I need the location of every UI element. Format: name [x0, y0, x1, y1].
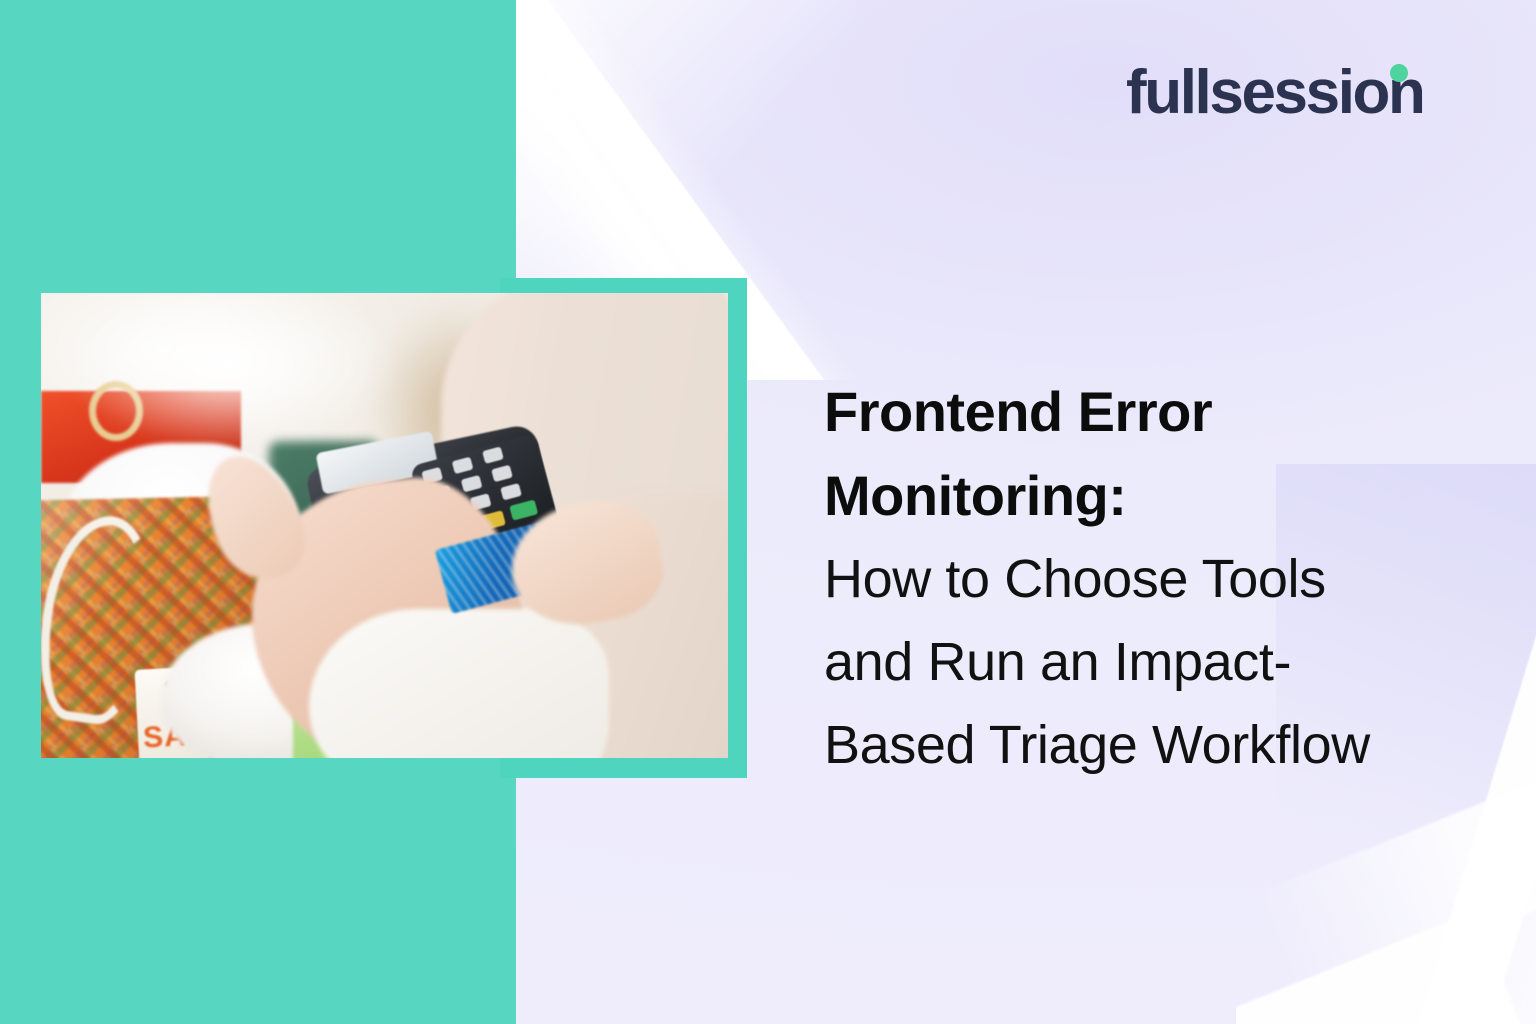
photo-pos-key [482, 446, 504, 463]
page-subtitle-line-2: and Run an Impact- [824, 621, 1484, 704]
hero-photo: SALE [41, 293, 728, 758]
photo-pos-key [491, 465, 513, 482]
photo-highlight-bloom [41, 293, 441, 473]
photo-pos-key [452, 457, 474, 474]
page-subtitle-line-1: How to Choose Tools [824, 538, 1484, 621]
photo-pos-key [461, 475, 483, 492]
page-title-line-1: Frontend Error [824, 370, 1484, 454]
photo-sleeve [309, 609, 609, 758]
page-title-line-2: Monitoring: [824, 454, 1484, 538]
logo-text-full: full [1126, 62, 1209, 124]
photo-pos-key [500, 483, 522, 500]
hero-photo-content: SALE [41, 293, 728, 758]
hero-banner: SALE [0, 0, 1536, 1024]
brand-logo[interactable]: fullsession [1126, 62, 1423, 128]
green-dot-accent-icon [1390, 64, 1408, 82]
photo-pos-key-enter [509, 499, 538, 520]
headline-block: Frontend Error Monitoring: How to Choose… [824, 370, 1484, 787]
page-subtitle-line-3: Based Triage Workflow [824, 704, 1484, 787]
